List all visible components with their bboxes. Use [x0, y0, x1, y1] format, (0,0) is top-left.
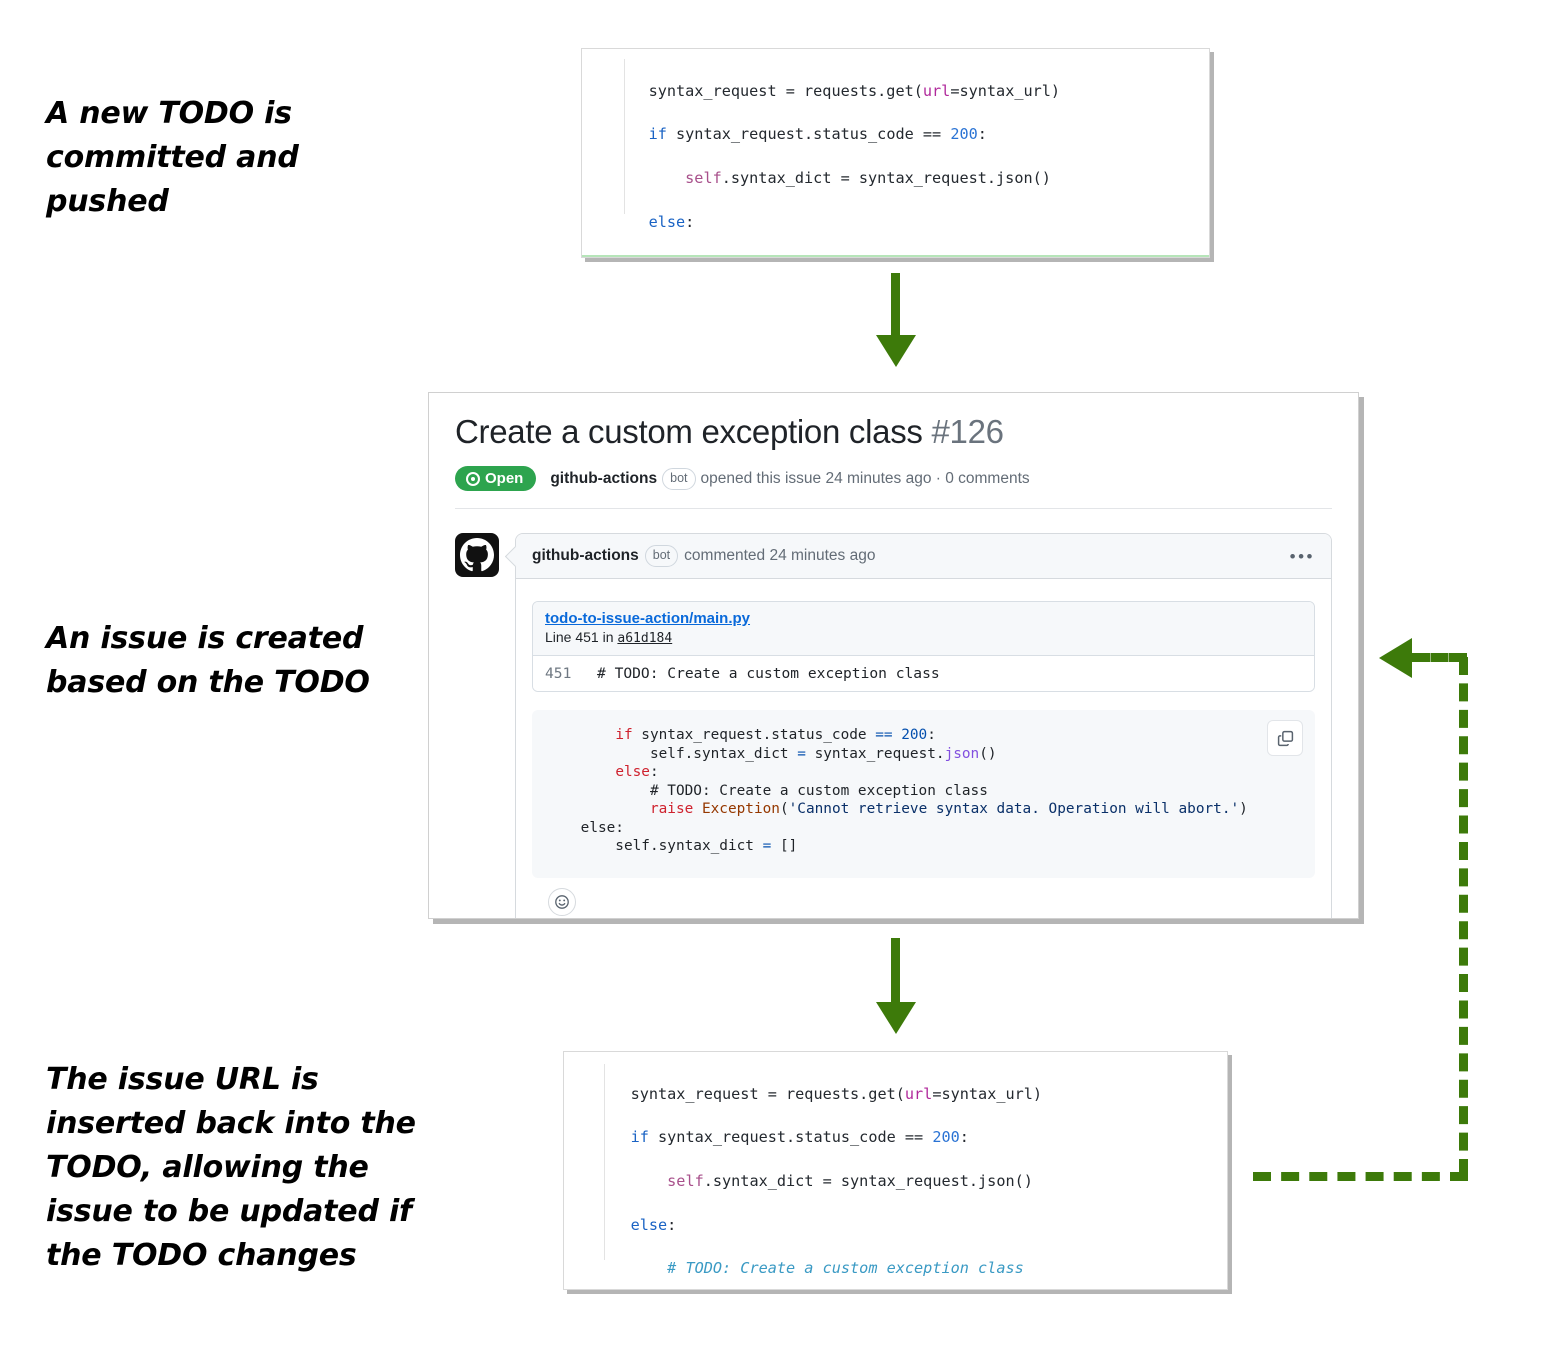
issue-author-link[interactable]: github-actions — [550, 470, 657, 488]
comment-box: github-actions bot commented 24 minutes … — [515, 533, 1332, 919]
code-line: self.syntax_dict = syntax_request.json() — [564, 1171, 1227, 1193]
file-snippet-reference: todo-to-issue-action/main.py Line 451 in… — [532, 601, 1315, 692]
issue-meta-text: github-actions bot opened this issue 24 … — [550, 468, 1029, 490]
code-line: self.syntax_dict = syntax_request.json() — [582, 168, 1209, 190]
emoji-smiley-icon[interactable] — [548, 888, 576, 916]
github-issue-card: Create a custom exception class #126 Ope… — [428, 392, 1359, 919]
comment-code-fence: if syntax_request.status_code == 200: se… — [532, 710, 1315, 878]
snippet-line-prefix: Line 451 in — [545, 629, 617, 645]
code-line: else: — [564, 1215, 1227, 1237]
copy-icon — [1277, 730, 1294, 747]
avatar[interactable] — [455, 533, 499, 577]
code-line: else: — [582, 212, 1209, 234]
code-line: if syntax_request.status_code == 200: — [564, 1127, 1227, 1149]
issue-comment: github-actions bot commented 24 minutes … — [429, 509, 1358, 919]
comment-timestamp: commented 24 minutes ago — [684, 547, 875, 565]
kebab-menu-icon[interactable]: ••• — [1290, 548, 1315, 565]
code-line: # TODO: Create a custom exception class — [564, 1258, 1227, 1280]
code-line-highlighted: # TODO: Create a custom exception class — [582, 255, 1209, 258]
code-line: syntax_request = requests.get(url=syntax… — [564, 1084, 1227, 1106]
comment-author-link[interactable]: github-actions — [532, 547, 639, 565]
caption-step-2: An issue is created based on the TODO — [46, 617, 406, 705]
comment-bot-badge: bot — [645, 545, 678, 567]
status-badge[interactable]: Open — [455, 466, 536, 491]
snippet-commit-sha[interactable]: a61d184 — [617, 631, 672, 646]
comment-header: github-actions bot commented 24 minutes … — [516, 534, 1331, 579]
snippet-header: todo-to-issue-action/main.py Line 451 in… — [533, 602, 1314, 656]
caption-step-3: The issue URL is inserted back into the … — [46, 1058, 421, 1278]
reaction-row — [532, 878, 1315, 919]
issue-meta-row: Open github-actions bot opened this issu… — [455, 466, 1332, 509]
bot-badge: bot — [662, 468, 695, 490]
snippet-line-number: 451 — [545, 665, 597, 682]
code-lines: syntax_request = requests.get(url=syntax… — [564, 1052, 1227, 1290]
code-line: if syntax_request.status_code == 200: — [582, 124, 1209, 146]
updated-todo-code-card: syntax_request = requests.get(url=syntax… — [563, 1051, 1228, 1290]
caption-step-1: A new TODO is committed and pushed — [46, 92, 376, 224]
issue-opened-text: opened this issue 24 minutes ago · 0 com… — [701, 470, 1030, 488]
comment-body: todo-to-issue-action/main.py Line 451 in… — [516, 579, 1331, 919]
issue-number: #126 — [931, 413, 1003, 450]
status-badge-label: Open — [485, 471, 523, 486]
committed-todo-code-card: syntax_request = requests.get(url=syntax… — [581, 48, 1210, 258]
code-line: syntax_request = requests.get(url=syntax… — [582, 81, 1209, 103]
snippet-line-text: # TODO: Create a custom exception class — [597, 665, 940, 682]
issue-opened-icon — [466, 472, 480, 486]
issue-title: Create a custom exception class #126 — [455, 411, 1332, 452]
snippet-file-path-link[interactable]: todo-to-issue-action/main.py — [545, 610, 750, 627]
smiley-glyph-icon — [554, 894, 570, 910]
code-lines: syntax_request = requests.get(url=syntax… — [582, 49, 1209, 258]
issue-title-text: Create a custom exception class — [455, 413, 923, 450]
snippet-line-info: Line 451 in a61d184 — [545, 629, 1302, 646]
github-mark-icon — [460, 538, 494, 572]
copy-code-button[interactable] — [1267, 720, 1303, 756]
snippet-code-line: 451 # TODO: Create a custom exception cl… — [533, 656, 1314, 691]
